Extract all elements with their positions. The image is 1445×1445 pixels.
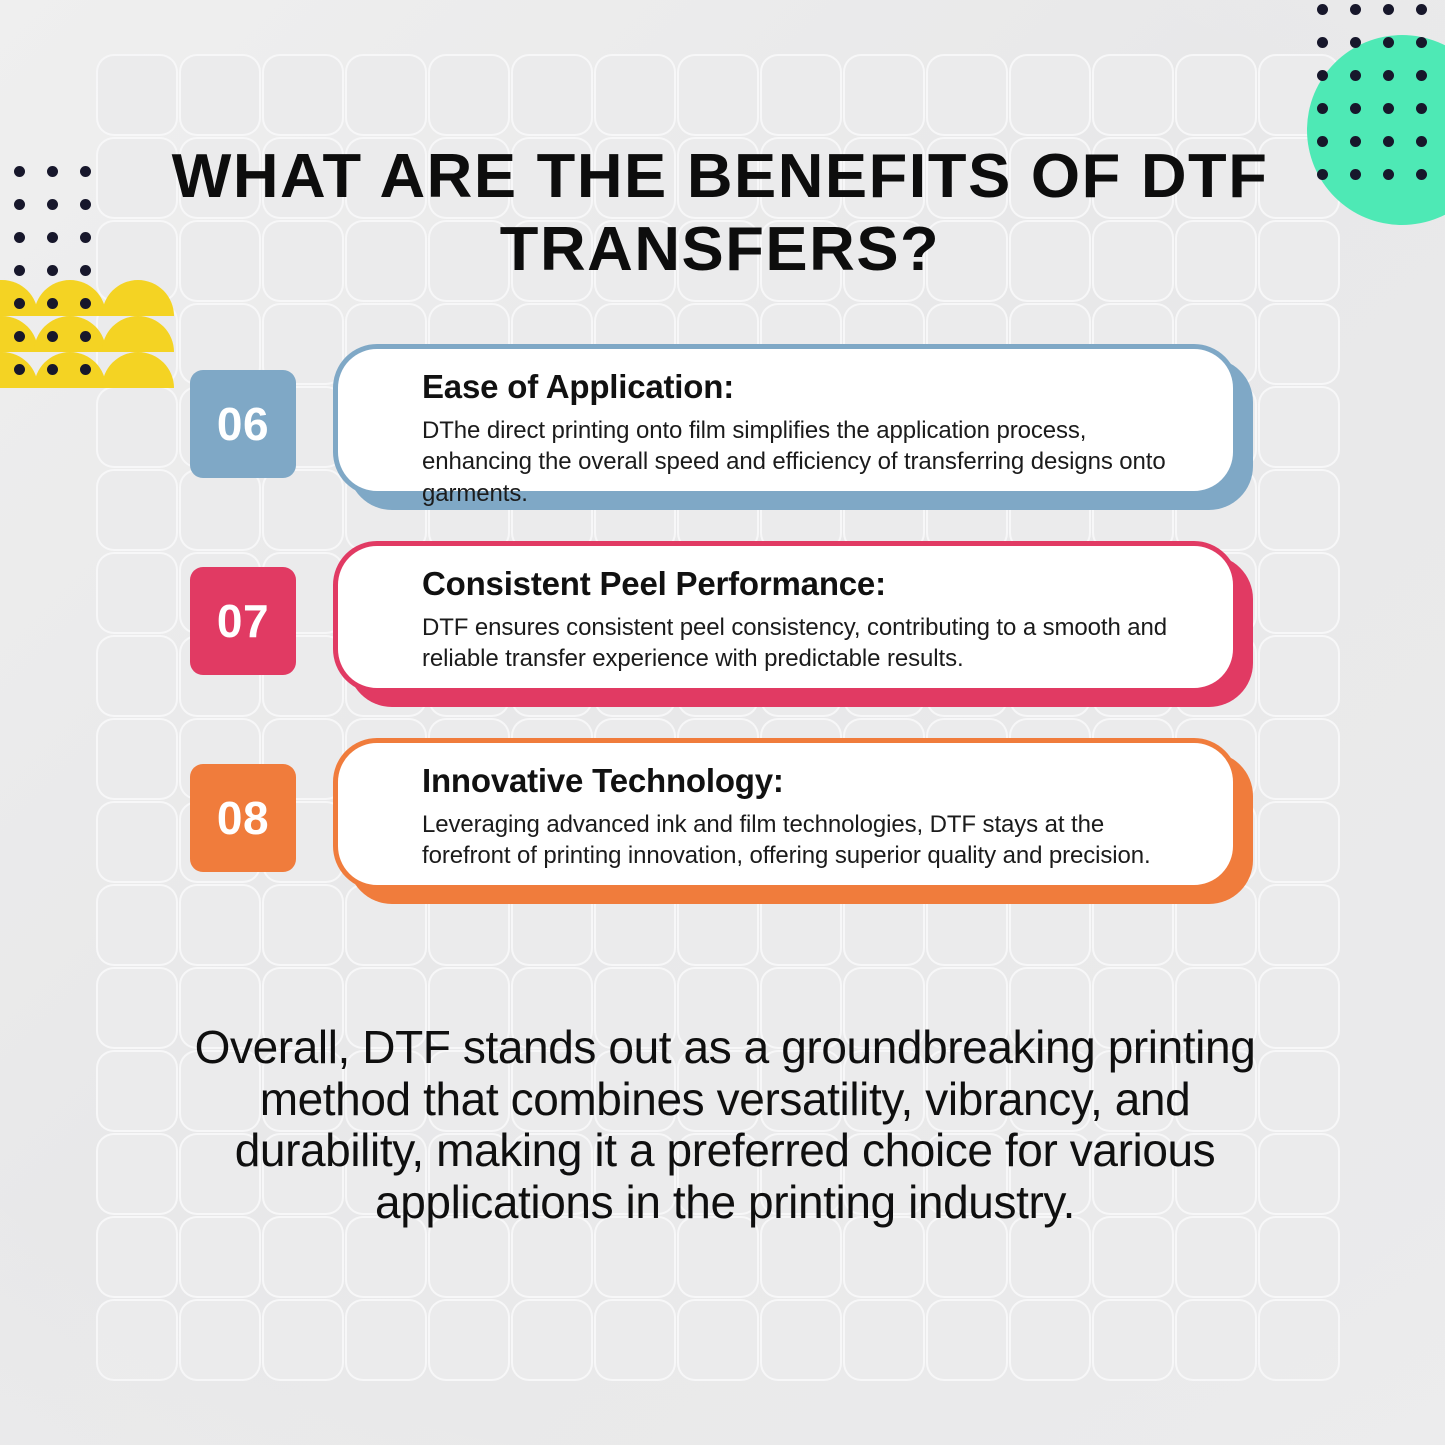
grid-cell: [347, 1301, 425, 1379]
grid-cell: [98, 969, 176, 1047]
benefit-card-heading: Innovative Technology:: [422, 763, 1191, 799]
yellow-half-circle: [34, 280, 106, 316]
benefit-card[interactable]: Consistent Peel Performance:DTF ensures …: [333, 541, 1238, 693]
decorative-dot: [80, 199, 91, 210]
grid-cell: [1177, 1301, 1255, 1379]
benefit-card-heading: Consistent Peel Performance:: [422, 566, 1191, 602]
grid-cell: [98, 1301, 176, 1379]
grid-cell: [679, 56, 757, 134]
grid-cell: [264, 56, 342, 134]
grid-cell: [1260, 1218, 1338, 1296]
grid-cell: [430, 1301, 508, 1379]
grid-cell: [513, 1301, 591, 1379]
benefit-number-badge: 07: [190, 567, 296, 675]
grid-cell: [1094, 1301, 1172, 1379]
grid-cell: [98, 1218, 176, 1296]
grid-cell: [845, 1301, 923, 1379]
benefit-card-body: Leveraging advanced ink and film technol…: [422, 809, 1191, 871]
grid-cell: [513, 56, 591, 134]
decorative-dot: [1383, 4, 1394, 15]
closing-paragraph: Overall, DTF stands out as a groundbreak…: [175, 1022, 1275, 1228]
decorative-dot: [1317, 4, 1328, 15]
grid-cell: [928, 1301, 1006, 1379]
decorative-dot: [14, 166, 25, 177]
benefit-card-body: DTF ensures consistent peel consistency,…: [422, 612, 1191, 674]
decorative-dot: [80, 166, 91, 177]
grid-cell: [264, 1301, 342, 1379]
decorative-dot: [14, 232, 25, 243]
decorative-dot: [14, 298, 25, 309]
teal-circle-decoration: [1307, 35, 1445, 225]
grid-cell: [596, 1218, 674, 1296]
benefit-card-row: 07Consistent Peel Performance:DTF ensure…: [0, 533, 1445, 730]
benefit-card-row: 06Ease of Application:DThe direct printi…: [0, 336, 1445, 533]
grid-cell: [845, 1218, 923, 1296]
decorative-dot: [80, 265, 91, 276]
benefit-card-list: 06Ease of Application:DThe direct printi…: [0, 336, 1445, 927]
grid-cell: [679, 1301, 757, 1379]
grid-cell: [1260, 1301, 1338, 1379]
benefit-number-label: 08: [217, 791, 269, 845]
benefit-card-row: 08Innovative Technology:Leveraging advan…: [0, 730, 1445, 927]
decorative-dot: [1350, 4, 1361, 15]
benefit-number-label: 07: [217, 594, 269, 648]
grid-cell: [264, 1218, 342, 1296]
decorative-dot: [14, 199, 25, 210]
page-title: WHAT ARE THE BENEFITS OF DTF TRANSFERS?: [139, 140, 1302, 286]
decorative-dot: [1416, 4, 1427, 15]
grid-cell: [1094, 56, 1172, 134]
benefit-card-heading: Ease of Application:: [422, 369, 1191, 405]
grid-cell: [1177, 56, 1255, 134]
decorative-dot: [47, 232, 58, 243]
grid-cell: [1011, 1218, 1089, 1296]
grid-cell: [928, 56, 1006, 134]
grid-cell: [928, 1218, 1006, 1296]
benefit-card[interactable]: Innovative Technology:Leveraging advance…: [333, 738, 1238, 890]
benefit-card[interactable]: Ease of Application:DThe direct printing…: [333, 344, 1238, 496]
decorative-dot: [47, 298, 58, 309]
grid-cell: [181, 1301, 259, 1379]
grid-cell: [98, 56, 176, 134]
benefit-number-badge: 08: [190, 764, 296, 872]
grid-cell: [1011, 56, 1089, 134]
decorative-dot: [47, 166, 58, 177]
decorative-dot: [47, 265, 58, 276]
infographic-poster: WHAT ARE THE BENEFITS OF DTF TRANSFERS? …: [0, 0, 1445, 1445]
grid-cell: [430, 56, 508, 134]
decorative-dot: [80, 232, 91, 243]
grid-cell: [98, 1135, 176, 1213]
grid-cell: [679, 1218, 757, 1296]
benefit-number-badge: 06: [190, 370, 296, 478]
grid-cell: [762, 56, 840, 134]
decorative-dot: [14, 265, 25, 276]
grid-cell: [513, 1218, 591, 1296]
grid-cell: [845, 56, 923, 134]
grid-cell: [762, 1301, 840, 1379]
grid-cell: [1094, 1218, 1172, 1296]
grid-cell: [596, 1301, 674, 1379]
benefit-card-body: DThe direct printing onto film simplifie…: [422, 415, 1191, 509]
grid-cell: [596, 56, 674, 134]
grid-cell: [1011, 1301, 1089, 1379]
benefit-number-label: 06: [217, 397, 269, 451]
grid-cell: [181, 1218, 259, 1296]
grid-cell: [430, 1218, 508, 1296]
decorative-dot: [80, 298, 91, 309]
grid-cell: [762, 1218, 840, 1296]
decorative-dot: [47, 199, 58, 210]
grid-cell: [98, 1052, 176, 1130]
grid-cell: [181, 56, 259, 134]
yellow-half-circle: [0, 280, 38, 316]
grid-cell: [347, 56, 425, 134]
grid-cell: [347, 1218, 425, 1296]
grid-cell: [1177, 1218, 1255, 1296]
decorative-dot: [1317, 37, 1328, 48]
